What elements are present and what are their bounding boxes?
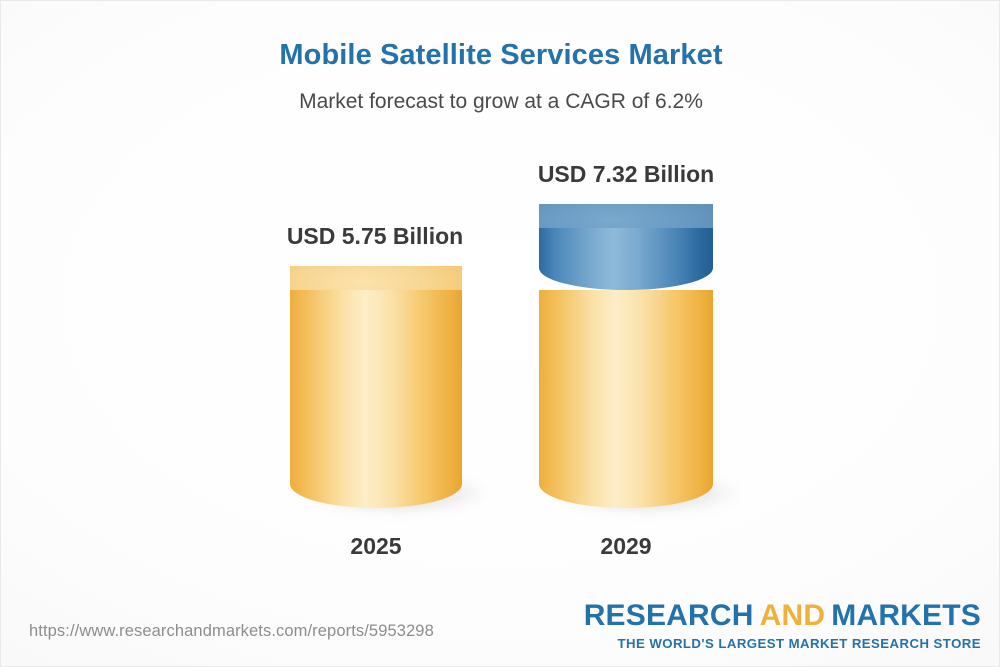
page-subtitle: Market forecast to grow at a CAGR of 6.2… <box>1 90 1000 114</box>
value-label-2029: USD 7.32 Billion <box>441 161 811 188</box>
source-url[interactable]: https://www.researchandmarkets.com/repor… <box>29 622 434 641</box>
brand-research-text: RESEARCH <box>584 599 754 632</box>
cylinder-2029-gold-segment <box>539 290 713 508</box>
brand-tagline: THE WORLD'S LARGEST MARKET RESEARCH STOR… <box>584 637 981 650</box>
brand-markets-text: MARKETS <box>831 599 981 632</box>
value-label-2025: USD 5.75 Billion <box>190 223 560 250</box>
brand-name: RESEARCHANDMARKETS <box>584 601 981 631</box>
brand-and-text: AND <box>760 599 826 632</box>
cylinder-2029 <box>539 204 713 508</box>
cylinder-2029-blue-segment <box>539 228 713 290</box>
chart-canvas: Mobile Satellite Services Market Market … <box>0 0 1000 667</box>
cylinder-2025-gold-segment <box>290 290 462 508</box>
page-title: Mobile Satellite Services Market <box>1 39 1000 72</box>
year-label-2029: 2029 <box>441 533 811 560</box>
cylinder-2025 <box>290 266 462 508</box>
brand-logo[interactable]: RESEARCHANDMARKETS THE WORLD'S LARGEST M… <box>584 601 981 650</box>
